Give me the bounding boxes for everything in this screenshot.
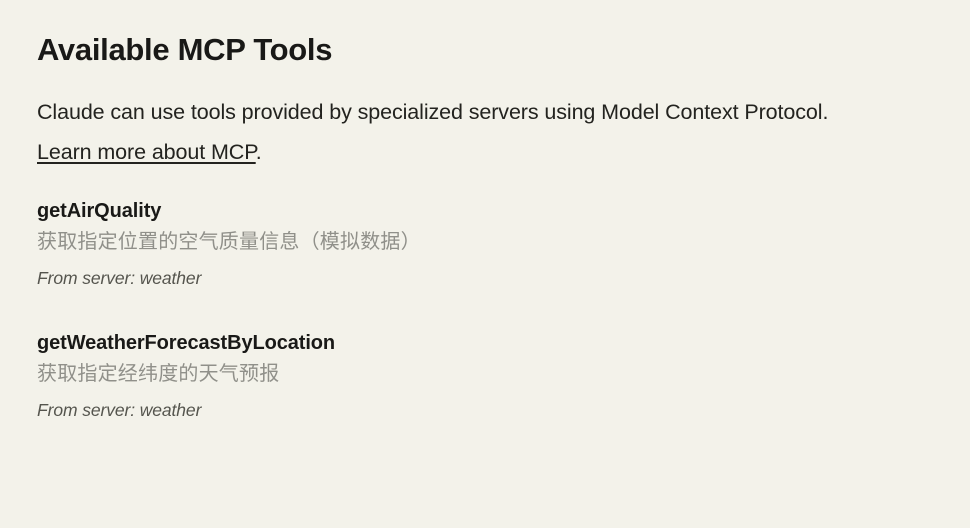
- learn-more-about-mcp-link[interactable]: Learn more about MCP: [37, 140, 256, 164]
- tool-name: getAirQuality: [37, 196, 930, 226]
- tool-description: 获取指定位置的空气质量信息（模拟数据）: [37, 226, 930, 258]
- page-title: Available MCP Tools: [37, 30, 930, 70]
- tool-description: 获取指定经纬度的天气预报: [37, 358, 930, 390]
- tool-name: getWeatherForecastByLocation: [37, 328, 930, 358]
- tool-server-label: From server: weather: [37, 264, 930, 292]
- mcp-tool-list: getAirQuality 获取指定位置的空气质量信息（模拟数据） From s…: [37, 196, 930, 424]
- intro-text-after-link: .: [256, 140, 262, 164]
- intro-text-before-link: Claude can use tools provided by special…: [37, 100, 828, 124]
- tool-server-label: From server: weather: [37, 396, 930, 424]
- list-item[interactable]: getWeatherForecastByLocation 获取指定经纬度的天气预…: [37, 328, 930, 424]
- intro-paragraph: Claude can use tools provided by special…: [37, 92, 887, 172]
- mcp-tools-panel: Available MCP Tools Claude can use tools…: [0, 0, 970, 528]
- list-item[interactable]: getAirQuality 获取指定位置的空气质量信息（模拟数据） From s…: [37, 196, 930, 292]
